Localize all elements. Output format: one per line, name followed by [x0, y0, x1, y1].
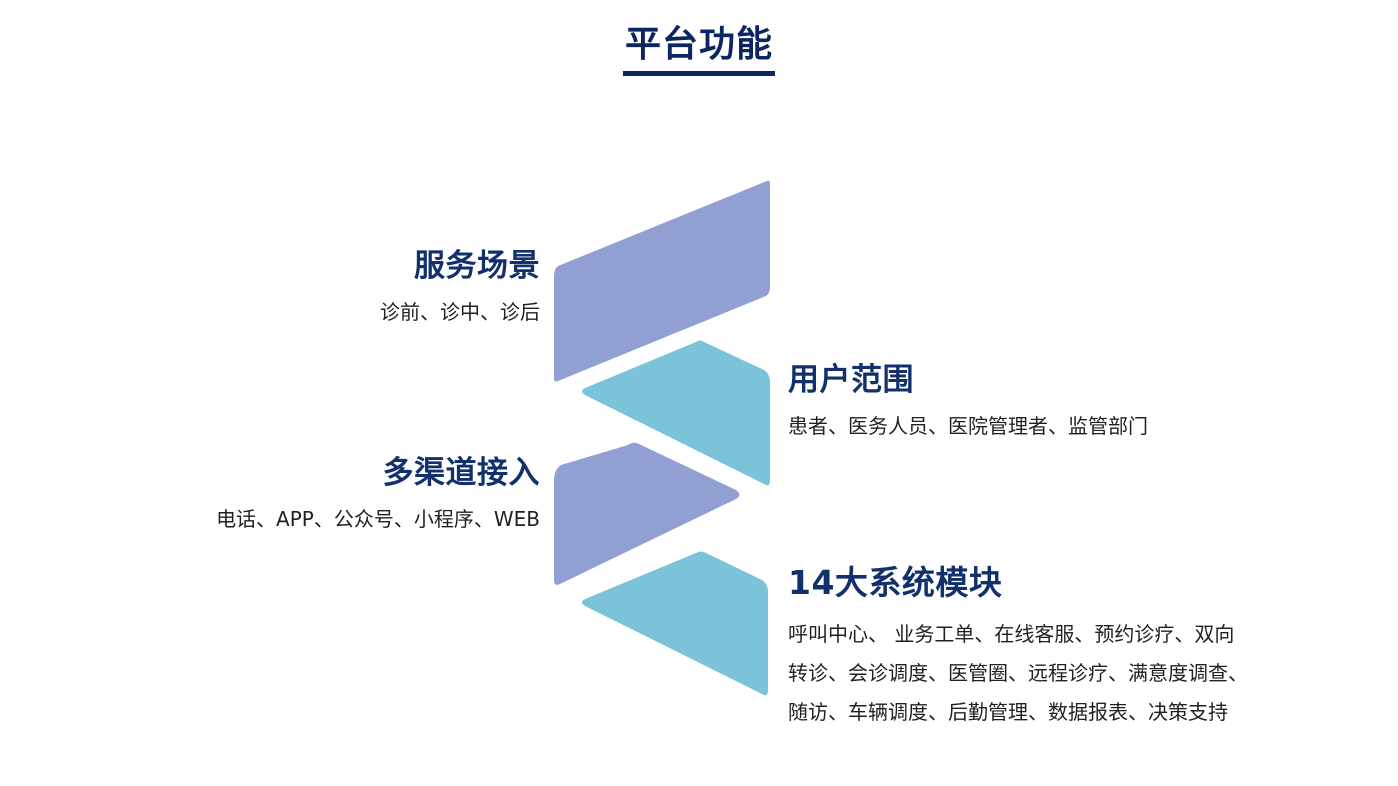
zigzag-ribbon-graphic: [540, 170, 790, 710]
ribbon-segment-1-purple: [554, 181, 770, 382]
slide-canvas: 平台功能 服务场景 诊前、诊中、诊后 多渠道接入 电话、APP、公众号、小程序、…: [0, 0, 1398, 786]
title-underline-rule: [623, 71, 775, 76]
block-user-scope: 用户范围 患者、医务人员、医院管理者、监管部门: [788, 362, 1328, 444]
block-service-scene-heading: 服务场景: [150, 248, 540, 285]
page-title: 平台功能: [0, 24, 1398, 76]
ribbon-segment-4-teal: [582, 552, 768, 696]
block-multi-channel-heading: 多渠道接入: [110, 455, 540, 492]
block-system-modules-body-line-1: 呼叫中心、 业务工单、在线客服、预约诊疗、双向: [788, 622, 1234, 646]
block-service-scene-body: 诊前、诊中、诊后: [150, 295, 540, 330]
block-system-modules: 14大系统模块 呼叫中心、 业务工单、在线客服、预约诊疗、双向 转诊、会诊调度、…: [788, 563, 1348, 732]
block-system-modules-body-line-3: 随访、车辆调度、后勤管理、数据报表、决策支持: [788, 700, 1228, 724]
block-system-modules-body-line-2: 转诊、会诊调度、医管圈、远程诊疗、满意度调查、: [788, 661, 1248, 685]
page-title-text: 平台功能: [625, 24, 773, 65]
block-multi-channel: 多渠道接入 电话、APP、公众号、小程序、WEB: [110, 455, 540, 537]
block-system-modules-heading: 14大系统模块: [788, 563, 1348, 603]
block-user-scope-heading: 用户范围: [788, 362, 1328, 399]
block-user-scope-body: 患者、医务人员、医院管理者、监管部门: [788, 409, 1328, 444]
block-system-modules-body: 呼叫中心、 业务工单、在线客服、预约诊疗、双向 转诊、会诊调度、医管圈、远程诊疗…: [788, 615, 1348, 732]
block-multi-channel-body: 电话、APP、公众号、小程序、WEB: [110, 502, 540, 537]
block-service-scene: 服务场景 诊前、诊中、诊后: [150, 248, 540, 330]
